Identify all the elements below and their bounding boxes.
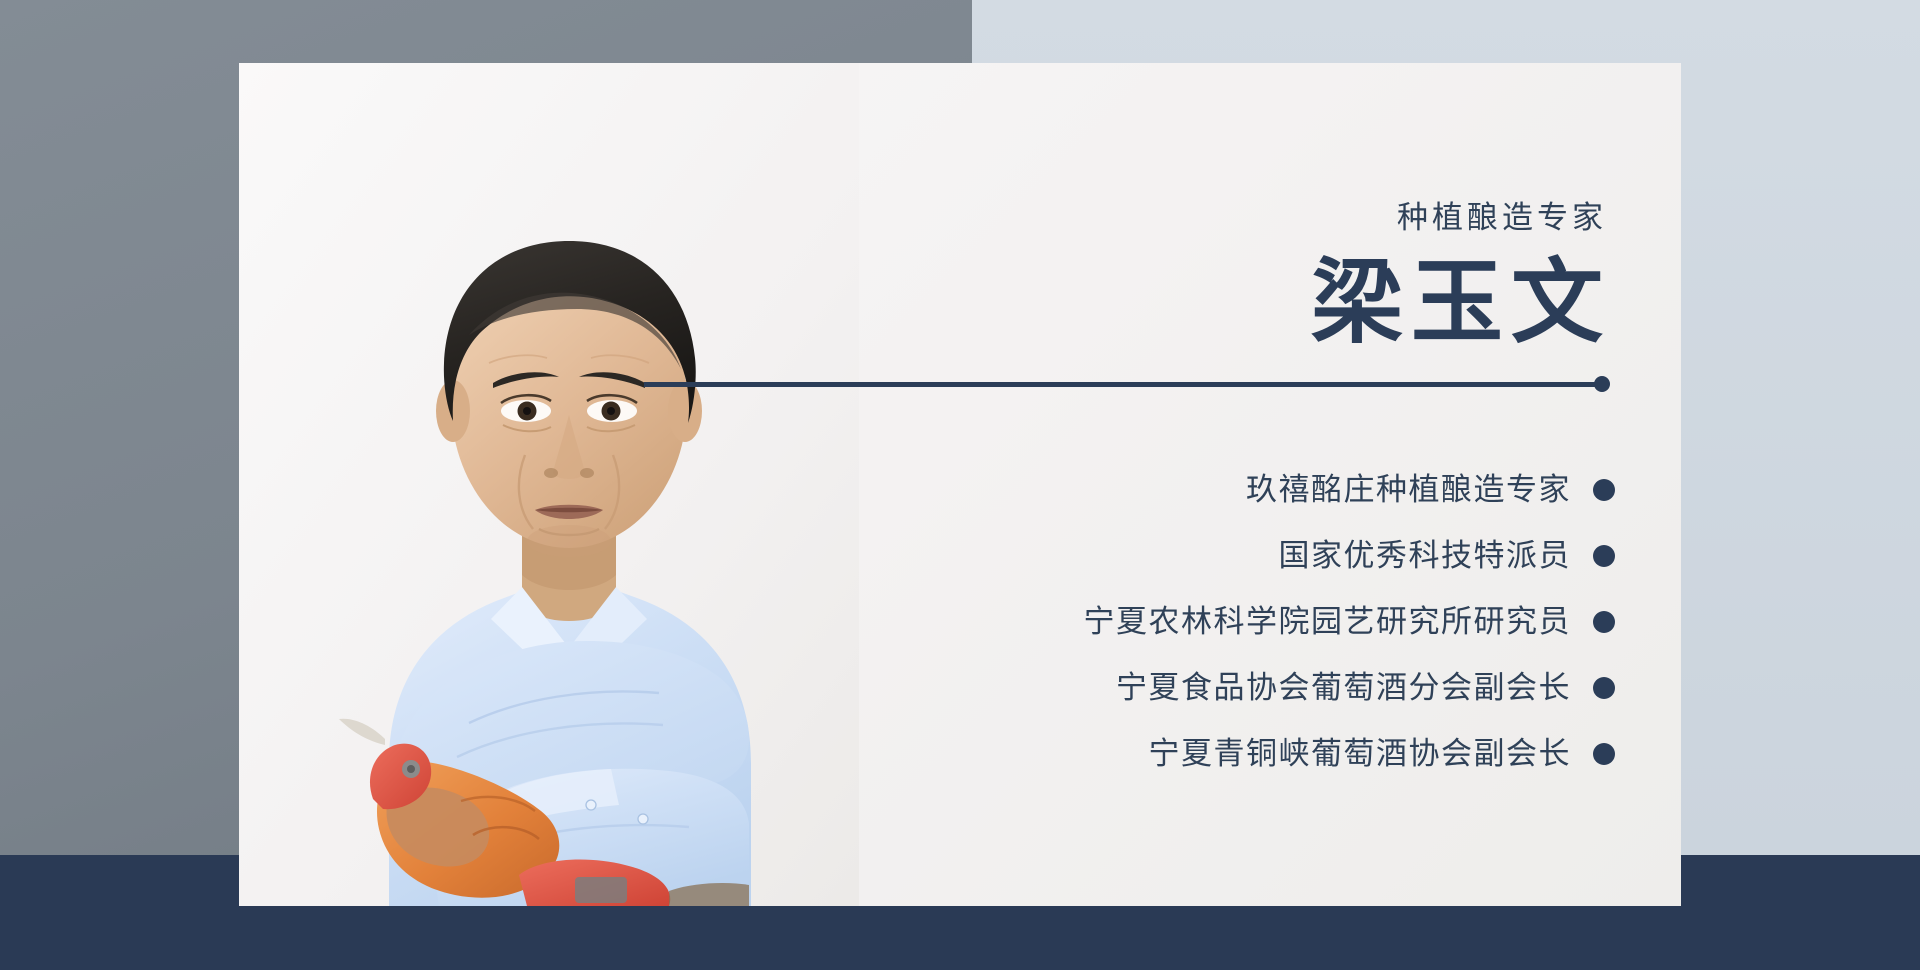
role-subtitle: 种植酿造专家	[1397, 198, 1607, 238]
list-item: 玖禧酩庄种植酿造专家	[999, 463, 1681, 517]
credentials-list: 玖禧酩庄种植酿造专家 国家优秀科技特派员 宁夏农林科学院园艺研究所研究员 宁夏食…	[999, 463, 1681, 793]
divider-end-dot-icon	[1594, 376, 1610, 392]
credential-label: 玖禧酩庄种植酿造专家	[1246, 470, 1571, 510]
bullet-dot-icon	[1593, 611, 1615, 633]
person-name: 梁玉文	[1311, 248, 1611, 358]
poster-canvas: 种植酿造专家 梁玉文 玖禧酩庄种植酿造专家 国家优秀科技特派员 宁夏农林科学院园…	[0, 0, 1920, 970]
divider-line	[644, 382, 1604, 387]
list-item: 宁夏食品协会葡萄酒分会副会长	[999, 661, 1681, 715]
info-column: 种植酿造专家 梁玉文 玖禧酩庄种植酿造专家 国家优秀科技特派员 宁夏农林科学院园…	[999, 63, 1681, 906]
bullet-dot-icon	[1593, 545, 1615, 567]
list-item: 国家优秀科技特派员	[999, 529, 1681, 583]
list-item: 宁夏青铜峡葡萄酒协会副会长	[999, 727, 1681, 781]
credential-label: 宁夏青铜峡葡萄酒协会副会长	[1149, 734, 1572, 774]
bullet-dot-icon	[1593, 677, 1615, 699]
bullet-dot-icon	[1593, 743, 1615, 765]
credential-label: 宁夏农林科学院园艺研究所研究员	[1084, 602, 1572, 642]
credential-label: 宁夏食品协会葡萄酒分会副会长	[1116, 668, 1571, 708]
portrait-photo	[239, 63, 859, 906]
credential-label: 国家优秀科技特派员	[1279, 536, 1572, 576]
bullet-dot-icon	[1593, 479, 1615, 501]
profile-card: 种植酿造专家 梁玉文 玖禧酩庄种植酿造专家 国家优秀科技特派员 宁夏农林科学院园…	[239, 63, 1681, 906]
list-item: 宁夏农林科学院园艺研究所研究员	[999, 595, 1681, 649]
